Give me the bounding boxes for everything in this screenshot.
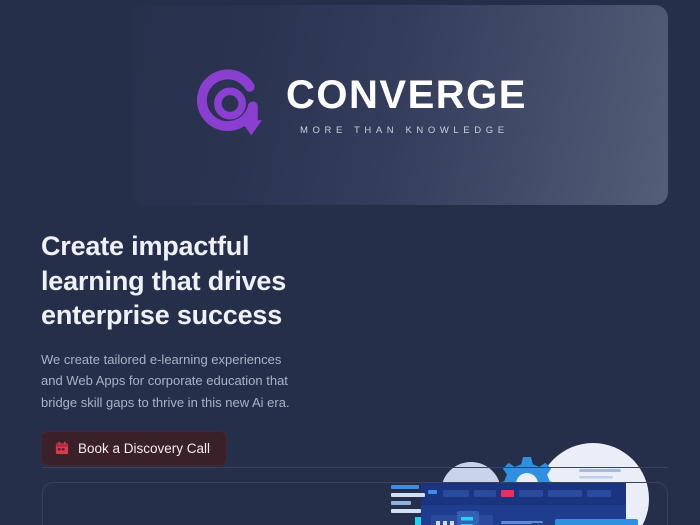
hero-section: Create impactful learning that drives en… <box>0 215 700 460</box>
landing-page: CONVERGE MORE THAN KNOWLEDGE Create impa… <box>0 0 700 525</box>
calendar-icon <box>55 441 69 455</box>
hero-subtitle-line-2: and Web Apps for corporate education tha… <box>41 370 371 391</box>
wordmark: CONVERGE <box>286 75 527 115</box>
hero-copy: Create impactful learning that drives en… <box>41 229 371 466</box>
page-title: Create impactful learning that drives en… <box>41 229 371 333</box>
brand-logo[interactable]: CONVERGE MORE THAN KNOWLEDGE <box>192 67 527 143</box>
hero-subtitle-line-3: bridge skill gaps to thrive in this new … <box>41 392 371 413</box>
section-divider <box>42 467 668 468</box>
hero-subtitle-line-1: We create tailored e-learning experience… <box>41 349 371 370</box>
content-placeholder-card <box>42 482 668 525</box>
converge-logo-mark <box>192 67 268 143</box>
logo-text-block: CONVERGE MORE THAN KNOWLEDGE <box>286 75 527 136</box>
cta-label: Book a Discovery Call <box>78 441 210 456</box>
hero-title-line-1: Create impactful <box>41 229 371 264</box>
brand-banner: CONVERGE MORE THAN KNOWLEDGE <box>132 5 668 205</box>
hero-title-line-2: learning that drives <box>41 264 371 299</box>
tagline: MORE THAN KNOWLEDGE <box>300 125 509 136</box>
book-discovery-call-button[interactable]: Book a Discovery Call <box>41 431 227 466</box>
hero-subtitle: We create tailored e-learning experience… <box>41 349 371 413</box>
hero-title-line-3: enterprise success <box>41 298 371 333</box>
